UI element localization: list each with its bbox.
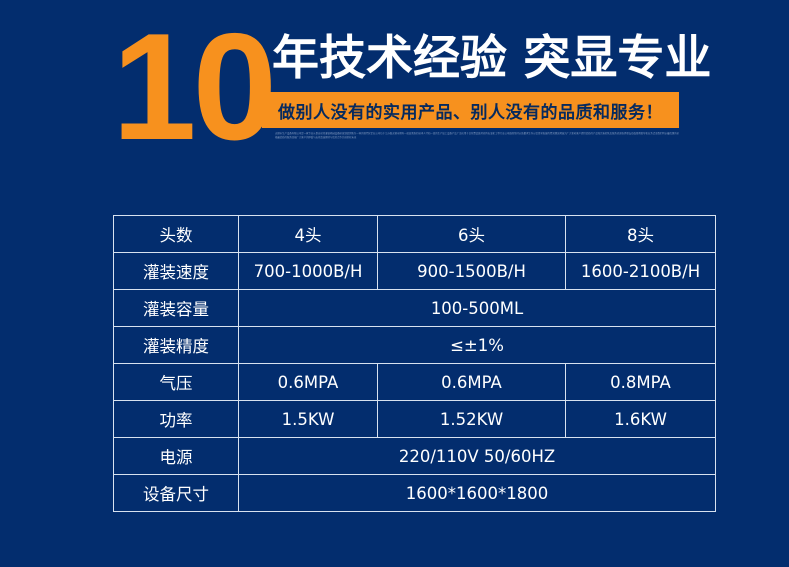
cell-power-8: 1.6KW: [566, 401, 716, 438]
table-row: 灌装精度 ≤±1%: [114, 327, 716, 364]
tagline-text: 做别人没有的实用产品、别人没有的品质和服务！: [278, 98, 663, 123]
cell-power-4: 1.5KW: [239, 401, 378, 438]
tagline-banner: 做别人没有的实用产品、别人没有的品质和服务！: [262, 92, 679, 128]
table-row: 气压 0.6MPA 0.6MPA 0.8MPA: [114, 364, 716, 401]
spec-table: 头数 4头 6头 8头 灌装速度 700-1000B/H 900-1500B/H…: [113, 215, 716, 512]
cell-power-supply: 220/110V 50/60HZ: [239, 438, 716, 475]
row-label-air-pressure: 气压: [114, 364, 239, 401]
cell-pressure-6: 0.6MPA: [378, 364, 566, 401]
cell-power-6: 1.52KW: [378, 401, 566, 438]
table-row: 功率 1.5KW 1.52KW 1.6KW: [114, 401, 716, 438]
table-row: 灌装容量 100-500ML: [114, 290, 716, 327]
row-label-filling-speed: 灌装速度: [114, 253, 239, 290]
cell-dimensions: 1600*1600*1800: [239, 475, 716, 512]
row-label-power-supply: 电源: [114, 438, 239, 475]
row-label-power: 功率: [114, 401, 239, 438]
table-row: 设备尺寸 1600*1600*1800: [114, 475, 716, 512]
page-title: 年技术经验 突显专业: [272, 30, 692, 88]
cell-filling-accuracy: ≤±1%: [239, 327, 716, 364]
spec-table-body: 头数 4头 6头 8头 灌装速度 700-1000B/H 900-1500B/H…: [114, 216, 716, 512]
cell-filling-volume: 100-500ML: [239, 290, 716, 327]
page-header: 10 年技术经验 突显专业 做别人没有的实用产品、别人没有的品质和服务！ 无锡市…: [0, 0, 789, 200]
cell-speed-4: 700-1000B/H: [239, 253, 378, 290]
company-microtext: 无锡市生产设备有限公司是一家专业从事自动化灌装机械设备研发制造销售为一体的现代化…: [275, 132, 681, 156]
table-row: 头数 4头 6头 8头: [114, 216, 716, 253]
cell-head-6: 6头: [378, 216, 566, 253]
cell-pressure-4: 0.6MPA: [239, 364, 378, 401]
table-row: 灌装速度 700-1000B/H 900-1500B/H 1600-2100B/…: [114, 253, 716, 290]
specification-table: 头数 4头 6头 8头 灌装速度 700-1000B/H 900-1500B/H…: [113, 215, 711, 510]
cell-speed-8: 1600-2100B/H: [566, 253, 716, 290]
row-label-filling-volume: 灌装容量: [114, 290, 239, 327]
cell-speed-6: 900-1500B/H: [378, 253, 566, 290]
row-label-head-count: 头数: [114, 216, 239, 253]
cell-head-8: 8头: [566, 216, 716, 253]
years-number: 10: [112, 10, 270, 165]
cell-pressure-8: 0.8MPA: [566, 364, 716, 401]
table-row: 电源 220/110V 50/60HZ: [114, 438, 716, 475]
cell-head-4: 4头: [239, 216, 378, 253]
promo-page: 10 年技术经验 突显专业 做别人没有的实用产品、别人没有的品质和服务！ 无锡市…: [0, 0, 789, 567]
row-label-filling-accuracy: 灌装精度: [114, 327, 239, 364]
row-label-dimensions: 设备尺寸: [114, 475, 239, 512]
